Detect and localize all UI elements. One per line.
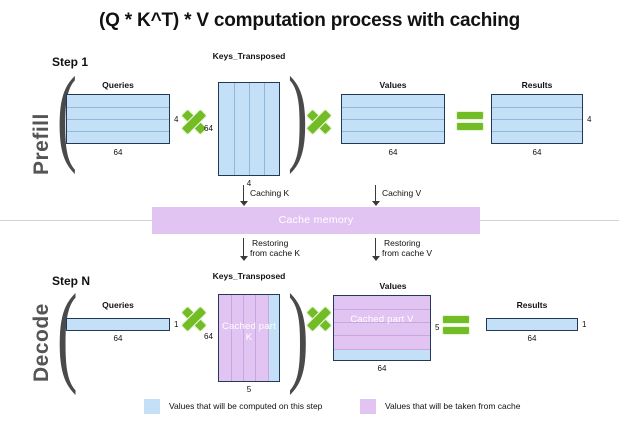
cached-part-v-label: Cached part V bbox=[334, 314, 430, 325]
matrix-keys-decode: Cached part K bbox=[218, 294, 280, 382]
matrix-values-decode: Cached part V bbox=[333, 295, 431, 361]
matrix-group-keys-prefill: Keys_Transposed 64 4 bbox=[199, 52, 299, 187]
matrix-group-results-prefill: Results 4 64 bbox=[487, 80, 587, 170]
matrix-keys-prefill bbox=[218, 82, 280, 176]
cache-memory-band: Cache memory bbox=[152, 207, 480, 234]
page-title: (Q * K^T) * V computation process with c… bbox=[0, 10, 619, 32]
matrix-group-queries-decode: Queries 1 64 bbox=[58, 300, 178, 360]
matrix-title-queries-prefill: Queries bbox=[58, 80, 178, 90]
matrix-group-keys-decode: Keys_Transposed Cached part K 64 5 bbox=[199, 272, 299, 392]
matrix-group-queries-prefill: Queries 4 64 bbox=[58, 80, 178, 170]
multiply-operator-decode-2 bbox=[306, 306, 332, 332]
matrix-title-values-prefill: Values bbox=[333, 80, 453, 90]
matrix-group-values-prefill: Values 64 bbox=[333, 80, 453, 170]
matrix-stripes bbox=[492, 95, 582, 143]
matrix-title-values-decode: Values bbox=[333, 281, 453, 291]
dim-width-values-prefill: 64 bbox=[333, 148, 453, 157]
label-restoring-k-line2: from cache K bbox=[250, 248, 300, 258]
label-caching-v: Caching V bbox=[382, 188, 421, 198]
legend: Values that will be computed on this ste… bbox=[0, 398, 619, 418]
legend-label-cached: Values that will be taken from cache bbox=[385, 401, 520, 411]
arrow-caching-k bbox=[239, 185, 248, 207]
dim-height-results-decode: 1 bbox=[582, 320, 586, 329]
label-restoring-v-line2: from cache V bbox=[382, 248, 432, 258]
matrix-title-results-prefill: Results bbox=[487, 80, 587, 90]
dim-width-results-decode: 64 bbox=[480, 334, 584, 343]
matrix-values-prefill bbox=[341, 94, 445, 144]
matrix-stripes bbox=[334, 296, 430, 360]
matrix-stripes bbox=[342, 95, 444, 143]
equals-operator-decode bbox=[443, 316, 469, 336]
matrix-title-keys-decode: Keys_Transposed bbox=[199, 272, 299, 281]
matrix-queries-prefill bbox=[66, 94, 170, 144]
dim-height-values-decode: 5 bbox=[435, 323, 439, 332]
matrix-group-values-decode: Values Cached part V 5 64 bbox=[333, 281, 453, 381]
arrow-restoring-k bbox=[239, 238, 248, 262]
equals-operator-prefill bbox=[457, 112, 483, 132]
row-label-decode: Decode bbox=[30, 303, 54, 382]
legend-swatch-computed bbox=[144, 399, 160, 414]
dim-width-values-decode: 64 bbox=[333, 364, 431, 373]
matrix-stripes bbox=[219, 83, 279, 175]
diagram-canvas: (Q * K^T) * V computation process with c… bbox=[0, 0, 619, 424]
arrow-caching-v bbox=[371, 185, 380, 207]
dim-height-keys-decode: 64 bbox=[204, 332, 213, 341]
matrix-results-prefill bbox=[491, 94, 583, 144]
matrix-title-queries-decode: Queries bbox=[58, 300, 178, 310]
matrix-title-results-decode: Results bbox=[480, 300, 584, 310]
matrix-title-keys-prefill: Keys_Transposed bbox=[199, 52, 299, 61]
dim-height-queries-prefill: 4 bbox=[174, 115, 178, 124]
arrow-restoring-v bbox=[371, 238, 380, 262]
dim-width-results-prefill: 64 bbox=[487, 148, 587, 157]
row-label-prefill: Prefill bbox=[30, 113, 54, 175]
dim-height-keys-prefill: 64 bbox=[204, 124, 213, 133]
label-restoring-k-line1: Restoring bbox=[252, 238, 288, 248]
dim-width-keys-decode: 5 bbox=[218, 385, 280, 394]
matrix-results-decode bbox=[486, 318, 578, 331]
multiply-operator-prefill-2 bbox=[306, 109, 332, 135]
dim-width-queries-prefill: 64 bbox=[58, 148, 178, 157]
legend-label-computed: Values that will be computed on this ste… bbox=[169, 401, 322, 411]
cached-part-k-label: Cached part K bbox=[219, 321, 279, 343]
matrix-group-results-decode: Results 1 64 bbox=[480, 300, 590, 360]
dim-height-results-prefill: 4 bbox=[587, 115, 591, 124]
cache-memory-label: Cache memory bbox=[152, 214, 480, 226]
legend-swatch-cached bbox=[360, 399, 376, 414]
label-caching-k: Caching K bbox=[250, 188, 289, 198]
dim-width-queries-decode: 64 bbox=[58, 334, 178, 343]
label-restoring-v-line1: Restoring bbox=[384, 238, 420, 248]
dim-width-keys-prefill: 4 bbox=[218, 179, 280, 188]
matrix-queries-decode bbox=[66, 318, 170, 331]
matrix-stripes bbox=[67, 95, 169, 143]
dim-height-queries-decode: 1 bbox=[174, 320, 178, 329]
